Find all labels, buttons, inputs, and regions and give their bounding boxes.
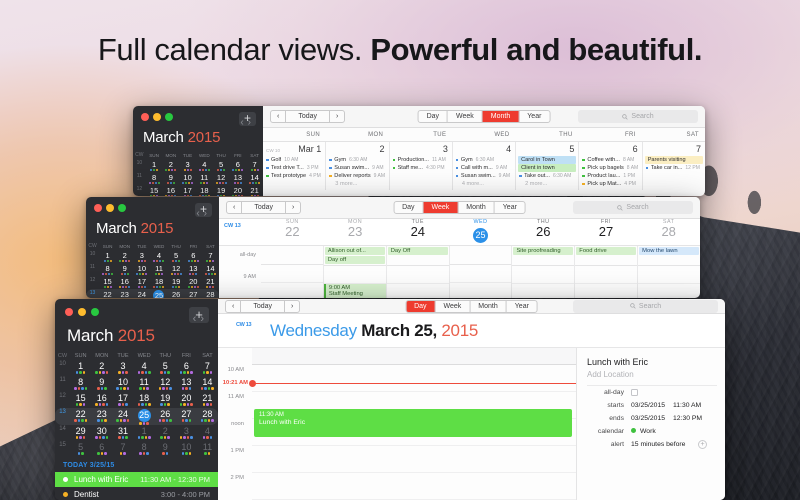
mini-cal-day[interactable]: 2 bbox=[162, 159, 179, 172]
week-column-header-22[interactable]: SUN22 bbox=[261, 219, 324, 243]
week-hour-cell[interactable] bbox=[638, 266, 700, 284]
mini-cal-day[interactable]: 9 bbox=[155, 441, 176, 457]
day-event-lunch-with-eric[interactable]: 11:30 AM Lunch with Eric bbox=[254, 409, 572, 437]
week-hour-cell[interactable] bbox=[324, 266, 386, 284]
week-allday-cell[interactable]: Mow the lawn bbox=[638, 247, 700, 266]
tab-year[interactable]: Year bbox=[495, 202, 525, 213]
month-event[interactable]: Client in town bbox=[518, 164, 576, 172]
mini-cal-day[interactable]: 4 bbox=[197, 425, 218, 441]
mini-cal-day[interactable]: 13 bbox=[176, 376, 197, 392]
mini-cal-day[interactable]: 12 bbox=[213, 172, 230, 185]
month-event[interactable]: Take out...6:30 AM bbox=[516, 172, 578, 180]
week-time-gutter: all-day 9 AM bbox=[219, 246, 261, 298]
inspector-field-label: all-day bbox=[587, 389, 631, 396]
week-allday-event[interactable]: Mow the lawn bbox=[639, 247, 699, 255]
mini-cal-week-row[interactable]: 101234567 bbox=[133, 159, 263, 172]
mini-cal-day[interactable]: 16 bbox=[162, 185, 179, 196]
mini-cal-day[interactable]: 14 bbox=[197, 376, 218, 392]
month-event[interactable]: Parents visiting bbox=[645, 156, 703, 164]
inspector-field-time[interactable]: 12:30 PM bbox=[673, 415, 702, 422]
event-color-square bbox=[456, 167, 459, 170]
week-column-header-28[interactable]: SAT28 bbox=[637, 219, 700, 243]
mini-cal-day[interactable]: 15 bbox=[99, 276, 116, 289]
prev-button[interactable]: ‹ bbox=[227, 202, 242, 213]
mini-cal-day[interactable]: 15 bbox=[70, 392, 91, 408]
mini-cal-day[interactable]: 10 bbox=[176, 441, 197, 457]
mini-cal-day[interactable]: 2 bbox=[155, 425, 176, 441]
maximize-icon[interactable] bbox=[91, 308, 99, 316]
mini-cal-day[interactable]: 25 bbox=[150, 289, 167, 298]
mini-cal-day[interactable]: 18 bbox=[134, 392, 155, 408]
mini-cal-day[interactable]: 14 bbox=[246, 172, 263, 185]
inspector-field-date[interactable]: 03/25/2015 bbox=[631, 402, 673, 409]
day-hour-row[interactable] bbox=[252, 365, 576, 392]
mini-cal-day[interactable]: 12 bbox=[155, 376, 176, 392]
week-hour-cell[interactable] bbox=[450, 265, 512, 283]
mini-cal-day[interactable]: 6 bbox=[176, 360, 197, 376]
day-body: 10 AM11 AMnoon1 PM2 PM 10:21 AM 11:30 AM… bbox=[218, 347, 725, 500]
month-view-pane: ‹ Today › Day Week Month Year Search bbox=[263, 106, 705, 196]
week-day-column[interactable]: Day Off bbox=[387, 246, 450, 298]
maximize-icon[interactable] bbox=[165, 113, 173, 121]
mini-cal-day[interactable]: 7 bbox=[197, 360, 218, 376]
mini-calendar-grid-week-window[interactable]: CWSUNMONTUEWEDTHUFRISAT10123456711891011… bbox=[86, 241, 219, 298]
month-day-cell[interactable]: 5Carol in TownClient in townTake out...6… bbox=[516, 142, 579, 190]
mini-cal-cw: 10 bbox=[133, 159, 146, 172]
inspector-title: Lunch with Eric bbox=[587, 357, 717, 367]
month-event[interactable]: Susan swim...9 AM bbox=[453, 172, 515, 180]
search-field-week[interactable]: Search bbox=[573, 201, 693, 214]
mini-cal-day[interactable]: 3 bbox=[112, 360, 133, 376]
agenda-item[interactable]: Lunch with Eric11:30 AM - 12:30 PM bbox=[55, 472, 218, 487]
inspector-field-value[interactable]: 15 minutes before bbox=[631, 441, 685, 448]
week-daynum: 22 bbox=[261, 225, 324, 239]
mini-cal-header-wed: WED bbox=[150, 241, 167, 250]
mini-cal-header-sat: SAT bbox=[197, 351, 218, 360]
month-event-name: Pick up bagels bbox=[587, 165, 623, 171]
mini-cal-day[interactable]: 8 bbox=[134, 441, 155, 457]
month-event[interactable]: Product lau...1 PM bbox=[579, 172, 641, 180]
mini-cal-next-icon[interactable]: › bbox=[200, 313, 208, 325]
week-day-column[interactable]: Allison out of...Day off9:00 AMStaff Mee… bbox=[324, 246, 387, 298]
month-event[interactable]: Staff me...4:30 PM bbox=[390, 164, 452, 172]
week-day-column[interactable]: Site proofreading bbox=[512, 246, 575, 298]
today-button[interactable]: Today bbox=[286, 111, 330, 122]
prev-button[interactable]: ‹ bbox=[226, 301, 241, 312]
month-event[interactable]: Deliver reports9 AM bbox=[326, 172, 388, 180]
agenda-list[interactable]: Lunch with Eric11:30 AM - 12:30 PMDentis… bbox=[55, 472, 218, 500]
week-allday-cell[interactable] bbox=[261, 246, 323, 265]
mini-cal-day[interactable]: 22 bbox=[70, 408, 91, 425]
mini-cal-day[interactable]: 5 bbox=[213, 159, 230, 172]
mini-cal-day[interactable]: 9 bbox=[116, 263, 133, 276]
maximize-icon[interactable] bbox=[118, 204, 126, 212]
week-hour-cell[interactable] bbox=[387, 284, 449, 298]
mini-cal-day[interactable]: 15 bbox=[146, 185, 163, 196]
mini-cal-day[interactable]: 1 bbox=[134, 425, 155, 441]
mini-calendar-grid-day-window[interactable]: CWSUNMONTUEWEDTHUFRISAT10123456711891011… bbox=[55, 351, 218, 457]
day-hour-row[interactable] bbox=[252, 473, 576, 500]
mini-cal-day[interactable]: 9 bbox=[162, 172, 179, 185]
week-hour-cell[interactable] bbox=[261, 283, 323, 298]
month-event[interactable]: Coffee with...8 AM bbox=[579, 156, 641, 164]
mini-cal-day[interactable]: 9 bbox=[91, 376, 112, 392]
month-event[interactable]: Gym6:30 AM bbox=[326, 156, 388, 164]
mini-cal-week-row[interactable]: 1215161718192021 bbox=[55, 392, 218, 408]
nav-segmented-control[interactable]: ‹ Today › bbox=[226, 201, 301, 214]
mini-cal-week-row[interactable]: 1322232425262728 bbox=[86, 289, 219, 298]
minimize-icon[interactable] bbox=[153, 113, 161, 121]
mini-cal-day[interactable]: 21 bbox=[197, 392, 218, 408]
search-field-day[interactable]: Search bbox=[573, 300, 718, 313]
month-day-cell[interactable]: CW 10Mar 1Golf10 AMTest drive T...3 PMTe… bbox=[263, 142, 326, 190]
month-more-link[interactable]: 4 more... bbox=[453, 180, 515, 188]
month-more-link[interactable]: 3 more... bbox=[326, 180, 388, 188]
mini-cal-day[interactable]: 29 bbox=[70, 425, 91, 441]
week-hour-cell[interactable] bbox=[512, 266, 574, 284]
nav-segmented-control[interactable]: ‹ Today › bbox=[225, 300, 300, 313]
mini-cal-cw: 13 bbox=[86, 289, 99, 298]
mini-cal-day[interactable]: 11 bbox=[197, 441, 218, 457]
nav-segmented-control[interactable]: ‹ Today › bbox=[270, 110, 345, 123]
prev-button[interactable]: ‹ bbox=[271, 111, 286, 122]
mini-cal-day[interactable]: 31 bbox=[112, 425, 133, 441]
mini-cal-day[interactable]: 4 bbox=[134, 360, 155, 376]
mini-cal-next-icon[interactable]: › bbox=[248, 117, 255, 128]
month-event-time: 9 AM bbox=[499, 173, 510, 179]
day-allday-row[interactable] bbox=[252, 348, 576, 365]
mini-cal-day[interactable]: 8 bbox=[146, 172, 163, 185]
tab-day[interactable]: Day bbox=[406, 301, 435, 312]
close-icon[interactable] bbox=[94, 204, 102, 212]
mini-cal-day[interactable]: 4 bbox=[150, 250, 167, 263]
window-week-view[interactable]: + March 2015 ‹› CWSUNMONTUEWEDTHUFRISAT1… bbox=[86, 197, 700, 298]
mini-cal-day[interactable]: 24 bbox=[112, 408, 133, 425]
tab-year[interactable]: Year bbox=[519, 111, 549, 122]
inspector-row-calendar[interactable]: calendarWork bbox=[587, 425, 717, 438]
inspector-row-all-day[interactable]: all-day bbox=[587, 386, 717, 399]
mini-cal-day[interactable]: 12 bbox=[168, 263, 185, 276]
week-column-header-26[interactable]: THU26 bbox=[512, 219, 575, 243]
mini-cal-week-row[interactable]: 1215161718192021 bbox=[133, 185, 263, 196]
minimize-icon[interactable] bbox=[78, 308, 86, 316]
tab-month[interactable]: Month bbox=[458, 202, 494, 213]
mini-cal-day[interactable]: 11 bbox=[150, 263, 167, 276]
mini-cal-day[interactable]: 22 bbox=[99, 289, 116, 298]
mini-cal-day[interactable]: 16 bbox=[91, 392, 112, 408]
mini-cal-month: March bbox=[67, 326, 113, 345]
allday-checkbox[interactable] bbox=[631, 389, 638, 396]
week-view-pane: ‹ Today › Day Week Month Year Search bbox=[219, 197, 700, 298]
mini-cal-day[interactable]: 6 bbox=[229, 159, 246, 172]
mini-cal-day[interactable]: 19 bbox=[168, 276, 185, 289]
mini-cal-day[interactable]: 11 bbox=[196, 172, 213, 185]
week-allday-cell[interactable]: Day Off bbox=[387, 247, 449, 266]
mini-cal-event-dots bbox=[91, 436, 112, 439]
mini-cal-event-dots bbox=[155, 436, 176, 439]
mini-cal-day[interactable]: 20 bbox=[185, 276, 202, 289]
next-button[interactable]: › bbox=[285, 301, 299, 312]
mini-cal-week-row[interactable]: 11891011121314 bbox=[55, 376, 218, 392]
month-event-time: 3 PM bbox=[307, 165, 319, 171]
mini-cal-header-mon: MON bbox=[162, 150, 179, 159]
mini-cal-day[interactable]: 3 bbox=[179, 159, 196, 172]
month-day-cell[interactable]: 3Production...11 AMStaff me...4:30 PM bbox=[390, 142, 453, 190]
next-button[interactable]: › bbox=[286, 202, 300, 213]
week-hour-cell[interactable] bbox=[387, 266, 449, 284]
mini-cal-prev-icon[interactable]: ‹ bbox=[196, 208, 203, 219]
today-button[interactable]: Today bbox=[242, 202, 286, 213]
search-icon bbox=[617, 205, 623, 211]
mini-cal-day[interactable]: 1 bbox=[70, 360, 91, 376]
tab-year[interactable]: Year bbox=[507, 301, 537, 312]
mini-cal-day[interactable]: 17 bbox=[133, 276, 150, 289]
mini-cal-day[interactable]: 8 bbox=[70, 376, 91, 392]
search-field-month[interactable]: Search bbox=[578, 110, 698, 123]
agenda-item-name: Dentist bbox=[74, 490, 161, 499]
mini-cal-day[interactable]: 7 bbox=[202, 250, 219, 263]
tab-day[interactable]: Day bbox=[419, 111, 448, 122]
month-day-headers: SUNMONTUEWEDTHUFRISAT bbox=[263, 128, 705, 142]
mini-cal-week-row[interactable]: 1322232425262728 bbox=[55, 408, 218, 425]
mini-cal-week-row[interactable]: 101234567 bbox=[55, 360, 218, 376]
week-hour-cell[interactable] bbox=[575, 284, 637, 298]
week-hour-cell[interactable] bbox=[575, 266, 637, 284]
month-event[interactable]: Pick up bagels8 AM bbox=[579, 164, 641, 172]
agenda-item[interactable]: Dentist3:00 - 4:00 PM bbox=[55, 487, 218, 500]
mini-cal-day[interactable]: 5 bbox=[168, 250, 185, 263]
mini-calendar-grid-month-window[interactable]: CWSUNMONTUEWEDTHUFRISAT10123456711891011… bbox=[133, 150, 263, 196]
mini-cal-week-row[interactable]: 1215161718192021 bbox=[86, 276, 219, 289]
week-allday-cell[interactable]: Food drive bbox=[575, 247, 637, 266]
view-segmented-control-month[interactable]: Day Week Month Year bbox=[418, 110, 551, 123]
mini-cal-nav[interactable]: ‹› bbox=[240, 117, 255, 128]
mini-cal-day[interactable]: 23 bbox=[116, 289, 133, 298]
week-day-column[interactable] bbox=[450, 246, 513, 298]
mini-calendar-title: March 2015 ‹› bbox=[86, 212, 219, 239]
window-day-view[interactable]: + March 2015 ‹› CWSUNMONTUEWEDTHUFRISAT1… bbox=[55, 299, 725, 500]
mini-cal-day[interactable]: 7 bbox=[112, 441, 133, 457]
month-event[interactable]: Gym6:30 AM bbox=[453, 156, 515, 164]
week-hour-cell[interactable] bbox=[450, 283, 512, 298]
minimize-icon[interactable] bbox=[106, 204, 114, 212]
week-hour-cell[interactable] bbox=[638, 284, 700, 298]
mini-cal-week-row[interactable]: 11891011121314 bbox=[86, 263, 219, 276]
week-daynum: 23 bbox=[324, 225, 387, 239]
day-hour-row[interactable] bbox=[252, 446, 576, 473]
week-column-header-24[interactable]: TUE24 bbox=[386, 219, 449, 243]
month-event[interactable]: Carol in Town bbox=[518, 156, 576, 164]
week-allday-cell[interactable]: Site proofreading bbox=[512, 247, 574, 266]
inspector-field-label: ends bbox=[587, 415, 631, 422]
mini-cal-day[interactable]: 10 bbox=[112, 376, 133, 392]
window-month-view[interactable]: + March 2015 ‹› CWSUNMONTUEWEDTHUFRISAT1… bbox=[133, 106, 705, 196]
mini-cal-day[interactable]: 5 bbox=[70, 441, 91, 457]
event-inspector[interactable]: Lunch with Eric Add Location all-daystar… bbox=[577, 348, 725, 500]
inspector-calendar-value[interactable]: Work bbox=[631, 428, 656, 435]
tab-week[interactable]: Week bbox=[436, 301, 471, 312]
mini-cal-day[interactable]: 21 bbox=[246, 185, 263, 196]
month-day-cell[interactable]: 7Parents visitingTake car in...12 PM bbox=[643, 142, 705, 190]
month-event[interactable]: Take car in...12 PM bbox=[643, 164, 705, 172]
mini-cal-day[interactable]: 24 bbox=[133, 289, 150, 298]
inspector-row-ends[interactable]: ends03/25/201512:30 PM bbox=[587, 412, 717, 425]
month-event[interactable]: Pick up Mat...4 PM bbox=[579, 180, 641, 188]
mini-cal-day[interactable]: 1 bbox=[99, 250, 116, 263]
mini-cal-day[interactable]: 10 bbox=[179, 172, 196, 185]
tab-day[interactable]: Day bbox=[394, 202, 423, 213]
mini-cal-header-thu: THU bbox=[155, 351, 176, 360]
mini-cal-day[interactable]: 18 bbox=[196, 185, 213, 196]
month-event-name: Test drive T... bbox=[271, 165, 304, 171]
mini-cal-event-dots bbox=[91, 387, 112, 390]
mini-cal-header-sun: SUN bbox=[70, 351, 91, 360]
month-day-cell[interactable]: 6Coffee with...8 AMPick up bagels8 AMPro… bbox=[579, 142, 642, 190]
mini-cal-day[interactable]: 27 bbox=[176, 408, 197, 425]
week-daynum: 25 bbox=[473, 228, 488, 243]
mini-cal-day[interactable]: 7 bbox=[246, 159, 263, 172]
month-day-cell[interactable]: 2Gym6:30 AMSusan swim...9 AMDeliver repo… bbox=[326, 142, 389, 190]
view-segmented-control-day[interactable]: Day Week Month Year bbox=[405, 300, 538, 313]
view-segmented-control-week[interactable]: Day Week Month Year bbox=[393, 201, 526, 214]
mini-cal-day[interactable]: 25 bbox=[134, 408, 155, 425]
mini-cal-day[interactable]: 17 bbox=[179, 185, 196, 196]
tab-week[interactable]: Week bbox=[424, 202, 459, 213]
mini-cal-event-dots bbox=[112, 403, 133, 406]
mini-cal-day[interactable]: 3 bbox=[176, 425, 197, 441]
mini-cal-next-icon[interactable]: › bbox=[204, 208, 211, 219]
mini-cal-nav[interactable]: ‹› bbox=[193, 313, 208, 325]
mini-cal-event-dots bbox=[70, 436, 91, 439]
mini-cal-day[interactable]: 3 bbox=[133, 250, 150, 263]
mini-cal-week-row[interactable]: 15567891011 bbox=[55, 441, 218, 457]
week-column-header-25[interactable]: WED25 bbox=[449, 219, 512, 243]
inspector-field-date[interactable]: 03/25/2015 bbox=[631, 415, 673, 422]
week-allday-event[interactable]: Allison out of... bbox=[325, 247, 385, 255]
mini-cal-event-dots bbox=[134, 403, 155, 406]
mini-cal-week-row[interactable]: 11891011121314 bbox=[133, 172, 263, 185]
week-hour-cell[interactable] bbox=[512, 284, 574, 298]
week-columns[interactable]: Allison out of...Day off9:00 AMStaff Mee… bbox=[261, 246, 700, 298]
mini-cal-header-sun: SUN bbox=[99, 241, 116, 250]
mini-cal-day[interactable]: 6 bbox=[185, 250, 202, 263]
mini-cal-day[interactable]: 6 bbox=[91, 441, 112, 457]
mini-cal-event-dots bbox=[197, 452, 218, 455]
week-allday-cell[interactable] bbox=[450, 246, 512, 265]
month-event[interactable]: Test prototype4 PM bbox=[263, 172, 325, 180]
mini-cal-day[interactable]: 30 bbox=[91, 425, 112, 441]
mini-cal-day[interactable]: 10 bbox=[133, 263, 150, 276]
mini-cal-day[interactable]: 5 bbox=[155, 360, 176, 376]
today-button[interactable]: Today bbox=[241, 301, 285, 312]
mini-cal-day[interactable]: 18 bbox=[150, 276, 167, 289]
mini-cal-day[interactable]: 11 bbox=[134, 376, 155, 392]
mini-cal-day[interactable]: 20 bbox=[176, 392, 197, 408]
inspector-field-time[interactable]: 11:30 AM bbox=[673, 402, 701, 409]
day-weekday: Wednesday bbox=[270, 321, 357, 340]
add-alert-button[interactable]: + bbox=[698, 440, 707, 449]
week-allday-event[interactable]: Day off bbox=[325, 256, 385, 264]
week-allday-event[interactable]: Site proofreading bbox=[513, 247, 573, 255]
mini-cal-day[interactable]: 16 bbox=[116, 276, 133, 289]
mini-cal-day[interactable]: 21 bbox=[202, 276, 219, 289]
week-day-column[interactable]: Food drive bbox=[575, 246, 638, 298]
inspector-row-alert[interactable]: alert15 minutes before+ bbox=[587, 438, 717, 451]
mini-cal-day[interactable]: 4 bbox=[196, 159, 213, 172]
mini-cal-day[interactable]: 23 bbox=[91, 408, 112, 425]
month-event[interactable]: Production...11 AM bbox=[390, 156, 452, 164]
day-timeline[interactable]: 10:21 AM 11:30 AM Lunch with Eric bbox=[252, 348, 577, 500]
mini-cal-event-dots bbox=[70, 452, 91, 455]
mini-cal-day[interactable]: 28 bbox=[197, 408, 218, 425]
mini-cal-event-dots bbox=[197, 403, 218, 406]
search-icon bbox=[630, 303, 636, 309]
month-day-cell[interactable]: 4Gym6:30 AMCall with m...9 AMSusan swim.… bbox=[453, 142, 516, 190]
close-icon[interactable] bbox=[65, 308, 73, 316]
event-color-square bbox=[582, 175, 585, 178]
week-timed-event[interactable]: 9:00 AMStaff Meeting bbox=[324, 284, 386, 298]
tab-month[interactable]: Month bbox=[470, 301, 506, 312]
mini-cal-day[interactable]: 17 bbox=[112, 392, 133, 408]
mini-cal-day[interactable]: 19 bbox=[155, 392, 176, 408]
month-event[interactable]: Call with m...9 AM bbox=[453, 164, 515, 172]
mini-cal-day[interactable]: 20 bbox=[229, 185, 246, 196]
mini-cal-day[interactable]: 2 bbox=[116, 250, 133, 263]
mini-cal-event-dots bbox=[176, 436, 197, 439]
mini-cal-prev-icon[interactable]: ‹ bbox=[240, 117, 247, 128]
mini-cal-day[interactable]: 1 bbox=[146, 159, 163, 172]
month-event-time: 8 AM bbox=[627, 165, 638, 171]
mini-cal-day[interactable]: 2 bbox=[91, 360, 112, 376]
week-day-column[interactable]: Mow the lawn bbox=[638, 246, 700, 298]
event-color-square bbox=[266, 175, 269, 178]
mini-cal-cw: 10 bbox=[55, 360, 70, 376]
inspector-row-starts[interactable]: starts03/25/201511:30 AM bbox=[587, 399, 717, 412]
mini-cal-day[interactable]: 26 bbox=[168, 289, 185, 298]
mini-cal-day[interactable]: 19 bbox=[213, 185, 230, 196]
mini-cal-day[interactable]: 26 bbox=[155, 408, 176, 425]
next-button[interactable]: › bbox=[330, 111, 344, 122]
month-event[interactable]: Golf10 AM bbox=[263, 156, 325, 164]
mini-cal-day[interactable]: 27 bbox=[185, 289, 202, 298]
month-event[interactable]: Susan swim...9 AM bbox=[326, 164, 388, 172]
agenda-item-name: Lunch with Eric bbox=[74, 475, 140, 484]
inspector-location-field[interactable]: Add Location bbox=[587, 367, 717, 386]
mini-cal-day[interactable]: 13 bbox=[185, 263, 202, 276]
event-color-square bbox=[329, 159, 332, 162]
tab-week[interactable]: Week bbox=[448, 111, 483, 122]
week-column-header-23[interactable]: MON23 bbox=[324, 219, 387, 243]
month-event-time: 12 PM bbox=[685, 165, 699, 171]
mini-cal-nav[interactable]: ‹› bbox=[196, 208, 211, 219]
month-more-link[interactable]: 2 more... bbox=[516, 180, 578, 188]
week-allday-event[interactable]: Day Off bbox=[388, 247, 448, 255]
week-hour-cell[interactable] bbox=[261, 265, 323, 283]
week-allday-event[interactable]: Food drive bbox=[576, 247, 636, 255]
mini-cal-day[interactable]: 13 bbox=[229, 172, 246, 185]
mini-cal-day[interactable]: 8 bbox=[99, 263, 116, 276]
week-allday-cell[interactable]: Allison out of...Day off bbox=[324, 247, 386, 266]
tab-month[interactable]: Month bbox=[483, 111, 519, 122]
mini-cal-week-row[interactable]: 101234567 bbox=[86, 250, 219, 263]
mini-cal-day[interactable]: 28 bbox=[202, 289, 219, 298]
month-event[interactable]: Test drive T...3 PM bbox=[263, 164, 325, 172]
week-day-column[interactable] bbox=[261, 246, 324, 298]
mini-cal-week-row[interactable]: 142930311234 bbox=[55, 425, 218, 441]
week-column-header-27[interactable]: FRI27 bbox=[575, 219, 638, 243]
close-icon[interactable] bbox=[141, 113, 149, 121]
mini-cal-day[interactable]: 14 bbox=[202, 263, 219, 276]
